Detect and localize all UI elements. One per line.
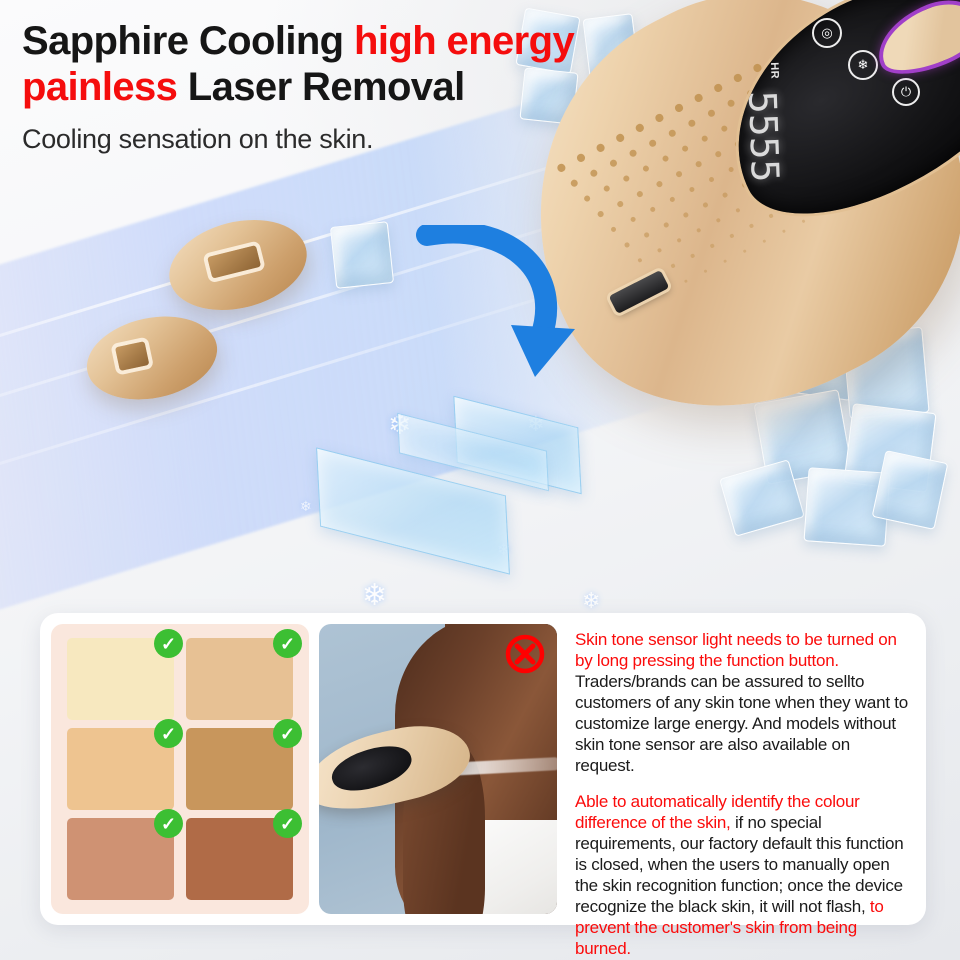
flash-mode-icon[interactable]: ◎ [812, 18, 842, 48]
vent-dot [782, 229, 786, 233]
vent-dot [597, 210, 605, 218]
snowflake-icon[interactable]: ❄ [722, 78, 746, 102]
vent-dot [690, 253, 695, 258]
skin-tone-1: ✓ [67, 638, 174, 720]
vent-dot [622, 174, 631, 183]
paragraph-1-body: Traders/brands can be assured to sellto … [575, 672, 908, 775]
check-glyph: ✓ [280, 635, 295, 653]
check-icon: ✓ [273, 809, 302, 838]
vent-dot [702, 202, 708, 208]
vent-dot [642, 164, 651, 173]
display-unit-ra: RA [728, 114, 738, 128]
vent-dot [636, 190, 644, 198]
skin-tone-6: ✓ [186, 818, 293, 900]
snowflake-icon: ❄ [362, 578, 387, 613]
check-glyph: ✓ [161, 725, 176, 743]
vent-dot [610, 226, 617, 233]
vent-dot [701, 134, 710, 143]
hero-text-block: Sapphire Cooling high energy painless La… [22, 18, 682, 155]
vent-dot [710, 243, 715, 248]
vent-dot [802, 219, 806, 223]
lamp-cap-window [115, 341, 149, 371]
paragraph-2: Able to automatically identify the colou… [575, 791, 909, 960]
vent-dot [722, 192, 728, 198]
headline-part-2: Laser Removal [177, 65, 464, 109]
skin-tone-2: ✓ [186, 638, 293, 720]
vent-dot [609, 159, 618, 168]
vent-dot [643, 232, 649, 238]
check-glyph: ✓ [280, 815, 295, 833]
vent-dot [669, 196, 676, 203]
check-glyph: ✓ [280, 725, 295, 743]
paragraph-1-lead: Skin tone sensor light needs to be turne… [575, 630, 897, 670]
vent-dot [556, 163, 566, 173]
snowflake-icon: ❄ [582, 588, 600, 614]
vent-dot [743, 249, 747, 253]
skin-tone-swatch-panel: ✓✓✓✓✓✓ [51, 624, 309, 914]
curved-down-arrow [415, 225, 595, 395]
vent-dot [663, 222, 669, 228]
headline-part-1: Sapphire Cooling [22, 19, 354, 63]
description-text-column: Skin tone sensor light needs to be turne… [567, 624, 915, 914]
power-icon[interactable]: ⏻ [892, 78, 920, 106]
vent-dot [570, 179, 579, 188]
vent-dot [708, 176, 715, 183]
skin-tone-5: ✓ [67, 818, 174, 900]
check-icon: ✓ [154, 629, 183, 658]
snowflake-icon[interactable]: ❄ [848, 50, 878, 80]
skin-tone-4: ✓ [186, 728, 293, 810]
lamp-cap-window [207, 245, 261, 278]
check-glyph: ✓ [161, 635, 176, 653]
not-suitable-x-icon [503, 632, 547, 676]
check-icon: ✓ [154, 809, 183, 838]
vent-dot [735, 208, 741, 214]
vent-dot [675, 170, 683, 178]
product-marketing-image: ❄ ❄ ❄ ❄ ❄ ❄ 555555 5555 [0, 0, 960, 960]
vent-dot [670, 263, 675, 268]
vent-dot [649, 206, 656, 213]
display-unit-hr: HR [768, 62, 781, 79]
vent-dot [657, 248, 663, 254]
vent-dot [716, 218, 722, 224]
snowflake-icon: ❄ [300, 498, 312, 515]
vent-dot [749, 223, 754, 228]
model-photo [319, 624, 557, 914]
vent-dot [728, 166, 735, 173]
vent-dot [661, 154, 670, 163]
vent-dot [696, 228, 702, 234]
vent-dot [762, 239, 766, 243]
vent-dot [637, 258, 643, 264]
vent-dot [703, 269, 707, 273]
info-card: ✓✓✓✓✓✓ Skin tone sensor light needs to b… [40, 613, 926, 925]
vent-dot [684, 279, 688, 283]
check-icon: ✓ [273, 719, 302, 748]
vent-dot [603, 184, 612, 193]
vent-dot [616, 200, 624, 208]
check-icon: ✓ [273, 629, 302, 658]
vent-dot [676, 238, 682, 244]
vent-dot [681, 144, 690, 153]
vent-dot [655, 180, 663, 188]
display-digits-secondary: 5555 [740, 90, 787, 183]
page-subtitle: Cooling sensation on the skin. [22, 124, 682, 155]
vent-dot [682, 212, 688, 218]
ice-cube [330, 221, 394, 289]
vent-dot [768, 213, 773, 218]
vent-dot [624, 242, 630, 248]
vent-dot [689, 186, 696, 193]
vent-dot [695, 160, 703, 168]
vent-dot [714, 150, 722, 158]
check-icon: ✓ [154, 719, 183, 748]
skin-tone-3: ✓ [67, 728, 174, 810]
vent-dot [723, 259, 727, 263]
vent-dot [583, 194, 592, 203]
handheld-device-display [327, 738, 417, 798]
vent-dot [729, 233, 734, 238]
headline-red-1: high energy [354, 19, 574, 63]
page-title: Sapphire Cooling high energy painless La… [22, 18, 682, 111]
headline-red-2: painless [22, 65, 177, 109]
paragraph-1: Skin tone sensor light needs to be turne… [575, 629, 909, 777]
check-glyph: ✓ [161, 815, 176, 833]
vent-dot [589, 169, 598, 178]
vent-dot [687, 119, 696, 128]
vent-dot [630, 216, 637, 223]
